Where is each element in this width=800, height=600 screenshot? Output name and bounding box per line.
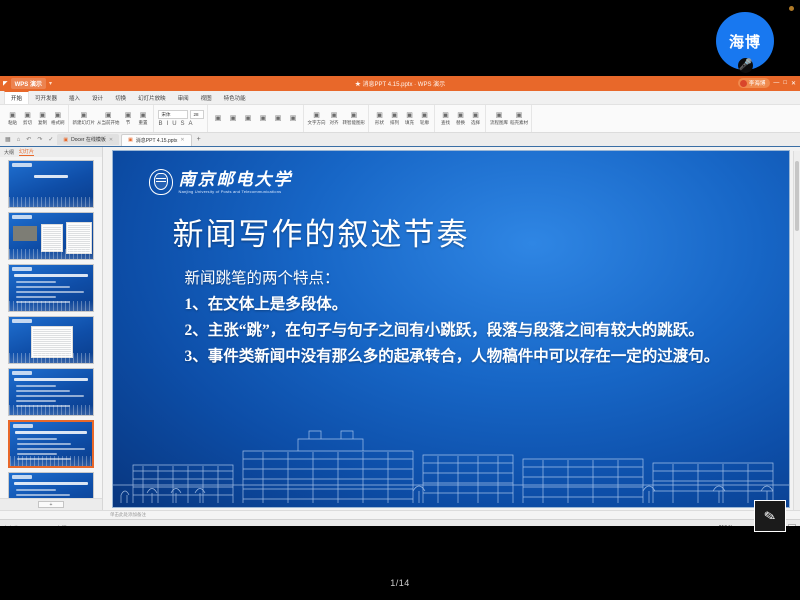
- undo-icon[interactable]: ↶: [24, 136, 33, 143]
- slide-canvas[interactable]: 南京邮电大学 Nanjing University of Posts and T…: [113, 151, 789, 507]
- minus-icon[interactable]: −: [738, 525, 742, 526]
- font-color-icon[interactable]: A: [188, 121, 194, 127]
- document-tab-strip: ▦ ⌂ ↶ ↷ ✓ ▣ Docer 在线模板 ✕ ▣ 消息PPT 4.15.pp…: [0, 133, 800, 147]
- plus-icon[interactable]: +: [194, 136, 204, 143]
- button-label: 对齐: [330, 120, 339, 126]
- document-tab-label: 消息PPT 4.15.pptx: [136, 137, 178, 144]
- ribbon-tab-6[interactable]: 审阅: [172, 92, 195, 104]
- slide-thumbnail-5[interactable]: 5: [8, 368, 94, 416]
- user-name: 李海博: [749, 79, 766, 87]
- copy-icon[interactable]: ▣复制: [36, 112, 49, 126]
- template-icon: ▣: [496, 112, 503, 119]
- button-label: 替换: [456, 120, 465, 126]
- canvas-vertical-scrollbar[interactable]: [793, 151, 800, 510]
- shape-fill-icon: ▣: [406, 112, 413, 119]
- slide-thumbnail-2[interactable]: 2: [8, 212, 94, 260]
- numbered-list-icon[interactable]: ▣: [227, 115, 240, 122]
- replace-icon[interactable]: ▣替换: [454, 112, 467, 126]
- user-account-button[interactable]: 李海博: [738, 78, 771, 88]
- arrange-icon: ▣: [391, 112, 398, 119]
- minimize-button[interactable]: —: [773, 80, 779, 87]
- align-text-icon: ▣: [331, 112, 338, 119]
- university-logo: 南京邮电大学 Nanjing University of Posts and T…: [149, 169, 293, 195]
- align-text-icon[interactable]: ▣对齐: [328, 112, 341, 126]
- university-name-cn: 南京邮电大学: [179, 171, 293, 188]
- button-label: 文字方向: [308, 120, 326, 126]
- ribbon-tab-4[interactable]: 切换: [109, 92, 132, 104]
- cut-icon: ▣: [24, 112, 31, 119]
- slide-body-line-3: 3、事件类新闻中没有那么多的起承转合，人物稿件中可以存在一定的过渡句。: [185, 345, 747, 369]
- ribbon-tab-strip: 开始可开发器插入设计切换幻灯片放映审阅视图特色功能: [0, 91, 800, 105]
- theme-label: Office 主题: [42, 525, 66, 527]
- tab-slides[interactable]: 幻灯片: [19, 148, 34, 156]
- ribbon-group-clipboard: ▣粘贴▣剪切▣复制▣格式刷: [3, 105, 69, 132]
- slide-body-line-0: 新闻跳笔的两个特点：: [185, 267, 747, 291]
- shape-outline-icon[interactable]: ▣轮廓: [418, 112, 431, 126]
- section-icon[interactable]: ▣节: [122, 112, 135, 126]
- shape-outline-icon: ▣: [421, 112, 428, 119]
- italic-icon[interactable]: I: [166, 121, 170, 127]
- smartart-icon: ▣: [350, 112, 357, 119]
- bullet-list-icon: ▣: [215, 115, 222, 122]
- fit-to-window-icon[interactable]: [788, 524, 796, 526]
- slide-body-text[interactable]: 新闻跳笔的两个特点：1、在文体上是多段体。2、主张“跳”，在句子与句子之间有小跳…: [185, 267, 747, 371]
- button-label: 排列: [390, 120, 399, 126]
- avatar-label: 海博: [729, 31, 761, 52]
- smartart-icon[interactable]: ▣转智能图形: [343, 112, 366, 126]
- underline-icon[interactable]: U: [171, 121, 177, 127]
- button-label: 节: [126, 120, 131, 126]
- font-size-box[interactable]: 28: [190, 110, 204, 119]
- microphone-icon: 🎤: [738, 58, 753, 73]
- university-crest-icon: [149, 169, 173, 195]
- window-title: ★ 消息PPT 4.15.pptx · WPS 演示: [0, 79, 800, 88]
- layout-icon[interactable]: ▣从当前开始: [97, 112, 120, 126]
- align-left-icon[interactable]: ▣: [242, 115, 255, 122]
- slide-thumbnail-7[interactable]: 7: [8, 472, 94, 498]
- line-spacing-icon: ▣: [290, 115, 297, 122]
- shapes-icon[interactable]: ▣形状: [373, 112, 386, 126]
- add-slide-row: +: [0, 498, 102, 510]
- align-center-icon: ▣: [260, 115, 267, 122]
- ribbon-toolbar: ▣粘贴▣剪切▣复制▣格式刷▣新建幻灯片▣从当前开始▣节▣重置宋体28BIUSA▣…: [0, 105, 800, 133]
- reading-view-icon[interactable]: ▤: [688, 525, 694, 527]
- slide-thumbnail-3[interactable]: 3: [8, 264, 94, 312]
- ribbon-group-slides: ▣新建幻灯片▣从当前开始▣节▣重置: [70, 105, 154, 132]
- redo-icon[interactable]: ↷: [35, 136, 44, 143]
- align-right-icon[interactable]: ▣: [272, 115, 285, 122]
- button-label: 选择: [471, 120, 480, 126]
- ribbon-tab-0[interactable]: 开始: [4, 91, 29, 104]
- format-painter-icon[interactable]: ▣格式刷: [51, 112, 65, 126]
- screen-share-stage: 海博 🎤 ◤ WPS 演示 ▾ ★ 消息PPT 4.15.pptx · WPS …: [0, 0, 800, 600]
- slide-thumbnail-1[interactable]: 1: [8, 160, 94, 208]
- replace-icon: ▣: [457, 112, 464, 119]
- annotate-pen-icon[interactable]: ✎: [754, 500, 786, 532]
- pptx-file-icon: ▣: [128, 137, 133, 143]
- select-icon: ▣: [472, 112, 479, 119]
- shape-fill-icon[interactable]: ▣填充: [403, 112, 416, 126]
- align-right-icon: ▣: [275, 115, 282, 122]
- button-label: 填充: [405, 120, 414, 126]
- close-button[interactable]: ✕: [791, 80, 796, 87]
- tab-outline[interactable]: 大纲: [4, 149, 14, 156]
- button-label: 新建幻灯片: [73, 120, 96, 126]
- font-name-box[interactable]: 宋体: [158, 110, 188, 119]
- ribbon-group-paragraph: ▣▣▣▣▣▣: [209, 105, 304, 132]
- slide-canvas-area: 南京邮电大学 Nanjing University of Posts and T…: [103, 147, 800, 510]
- notes-view-icon[interactable]: ▥: [698, 525, 704, 527]
- workspace: 大纲 幻灯片 12345678 + 南: [0, 147, 800, 510]
- select-icon[interactable]: ▣选择: [469, 112, 482, 126]
- new-slide-icon[interactable]: ▣新建幻灯片: [73, 112, 96, 126]
- close-icon[interactable]: ✕: [180, 137, 184, 143]
- slide-body-line-1: 1、在文体上是多段体。: [185, 293, 747, 317]
- slideshow-icon[interactable]: ▷: [709, 525, 714, 527]
- button-label: 从当前开始: [97, 120, 120, 126]
- slide-body-line-2: 2、主张“跳”，在句子与句子之间有小跳跃，段落与段落之间有较大的跳跃。: [185, 319, 747, 343]
- text-direction-icon: ▣: [313, 112, 320, 119]
- button-label: 转智能图形: [343, 120, 366, 126]
- ribbon-tab-5[interactable]: 幻灯片放映: [132, 92, 172, 104]
- page-indicator: 1/14: [0, 578, 800, 588]
- bold-icon[interactable]: B: [158, 121, 164, 127]
- cloud-icon[interactable]: ▣稻壳素材: [510, 112, 528, 126]
- notes-pane[interactable]: 单击此处添加备注: [0, 510, 800, 519]
- ribbon-group-font: 宋体28BIUSA: [155, 105, 208, 132]
- campus-building-line-art: [113, 425, 789, 507]
- paste-icon[interactable]: ▣粘贴: [6, 112, 19, 126]
- bullet-list-icon[interactable]: ▣: [212, 115, 225, 122]
- ribbon-group-drawing: ▣形状▣排列▣填充▣轮廓: [370, 105, 435, 132]
- reset-icon[interactable]: ▣重置: [137, 112, 150, 126]
- button-label: 轮廓: [420, 120, 429, 126]
- thumbnail-list[interactable]: 12345678: [0, 157, 102, 498]
- ribbon-tab-3[interactable]: 设计: [86, 92, 109, 104]
- button-label: 流程图库: [490, 120, 508, 126]
- cloud-icon: ▣: [516, 112, 523, 119]
- ribbon-tab-7[interactable]: 视图: [195, 92, 218, 104]
- line-spacing-icon[interactable]: ▣: [287, 115, 300, 122]
- home-icon[interactable]: ⌂: [15, 137, 23, 143]
- maximize-button[interactable]: □: [783, 80, 787, 87]
- paste-icon: ▣: [9, 112, 16, 119]
- slide-title[interactable]: 新闻写作的叙述节奏: [173, 209, 470, 254]
- ribbon-tab-8[interactable]: 特色功能: [218, 92, 252, 104]
- ribbon-group-text-direction: ▣文字方向▣对齐▣转智能图形: [305, 105, 370, 132]
- button-label: 粘贴: [8, 120, 17, 126]
- status-bar: 幻灯片 6/14 Office 主题 ▭ ▦ ▤ ▥ ▷ 219 % − +: [0, 519, 800, 526]
- button-label: 稻壳素材: [510, 120, 528, 126]
- format-painter-icon: ▣: [54, 112, 61, 119]
- close-icon[interactable]: ✕: [109, 137, 113, 143]
- ribbon-group-editing: ▣查找▣替换▣选择: [436, 105, 486, 132]
- slide-thumbnail-4[interactable]: 4: [8, 316, 94, 364]
- align-left-icon: ▣: [245, 115, 252, 122]
- search-icon: ▣: [442, 112, 449, 119]
- university-name-en: Nanjing University of Posts and Telecomm…: [179, 189, 293, 194]
- shapes-icon: ▣: [376, 112, 383, 119]
- ribbon-tab-2[interactable]: 插入: [63, 92, 86, 104]
- template-icon[interactable]: ▣流程图库: [490, 112, 508, 126]
- zoom-percent: 219 %: [719, 525, 733, 526]
- document-tab-docer[interactable]: ▣ Docer 在线模板 ✕: [57, 134, 119, 145]
- recording-indicator-icon: [789, 6, 794, 11]
- button-label: 复制: [38, 120, 47, 126]
- new-slide-icon: ▣: [80, 112, 87, 119]
- title-bar: ◤ WPS 演示 ▾ ★ 消息PPT 4.15.pptx · WPS 演示 李海…: [0, 76, 800, 91]
- cut-icon[interactable]: ▣剪切: [21, 112, 34, 126]
- search-icon[interactable]: ▣查找: [439, 112, 452, 126]
- slide-thumbnail-panel: 大纲 幻灯片 12345678 +: [0, 147, 103, 510]
- save-icon[interactable]: ✓: [46, 136, 55, 143]
- slide-counter: 幻灯片 6/14: [4, 525, 30, 527]
- wps-presentation-window: ◤ WPS 演示 ▾ ★ 消息PPT 4.15.pptx · WPS 演示 李海…: [0, 76, 800, 526]
- align-center-icon[interactable]: ▣: [257, 115, 270, 122]
- layout-icon: ▣: [105, 112, 112, 119]
- button-label: 剪切: [23, 120, 32, 126]
- button-label: 形状: [375, 120, 384, 126]
- section-icon: ▣: [125, 112, 132, 119]
- add-slide-button[interactable]: +: [38, 501, 64, 508]
- ribbon-tab-1[interactable]: 可开发器: [29, 92, 63, 104]
- scrollbar-thumb[interactable]: [795, 161, 799, 231]
- ribbon-group-extras: ▣流程图库▣稻壳素材: [487, 105, 532, 132]
- reset-icon: ▣: [140, 112, 147, 119]
- strikethrough-icon[interactable]: S: [180, 121, 186, 127]
- document-tab-active[interactable]: ▣ 消息PPT 4.15.pptx ✕: [121, 134, 192, 146]
- sorter-view-icon[interactable]: ▦: [677, 525, 683, 527]
- arrange-icon[interactable]: ▣排列: [388, 112, 401, 126]
- template-tab-icon: ▣: [63, 137, 68, 143]
- copy-icon: ▣: [39, 112, 46, 119]
- numbered-list-icon: ▣: [230, 115, 237, 122]
- user-avatar-icon: [740, 80, 747, 87]
- button-label: 重置: [139, 120, 148, 126]
- button-label: 查找: [441, 120, 450, 126]
- grid-icon[interactable]: ▦: [3, 136, 13, 143]
- button-label: 格式刷: [51, 120, 65, 126]
- slide-thumbnail-6[interactable]: 6: [8, 420, 94, 468]
- normal-view-icon[interactable]: ▭: [666, 525, 672, 527]
- document-tab-label: Docer 在线模板: [71, 136, 106, 143]
- thumbpanel-tabs: 大纲 幻灯片: [0, 147, 102, 157]
- text-direction-icon[interactable]: ▣文字方向: [308, 112, 326, 126]
